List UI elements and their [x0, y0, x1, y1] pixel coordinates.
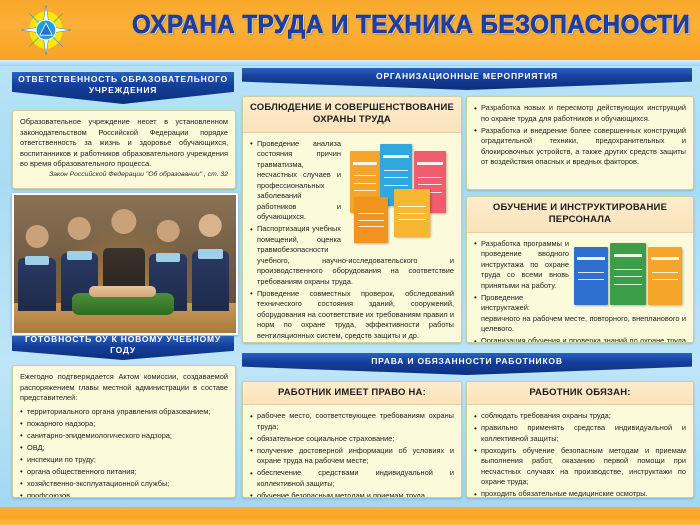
compliance-list: Проведение анализа состояния причин трав…: [250, 139, 454, 343]
worker-duties-list: соблюдать требования охраны труда; прави…: [474, 411, 686, 498]
list-item: получение достоверной информации об усло…: [250, 446, 454, 467]
photo-cpr-training: [12, 193, 238, 335]
card-measures-development: Разработка новых и пересмотр действующих…: [466, 96, 694, 190]
banner-responsibility: ОТВЕТСТВЕННОСТЬ ОБРАЗОВАТЕЛЬНОГО УЧРЕЖДЕ…: [12, 72, 234, 104]
poster-header: ОХРАНА ТРУДА И ТЕХНИКА БЕЗОПАСНОСТИ: [0, 0, 700, 60]
list-item: обеспечение средствами индивидуальной и …: [250, 468, 454, 489]
responsibility-citation: Закон Российской Федерации "Об образован…: [20, 171, 228, 178]
subhead-worker-duties: РАБОТНИК ОБЯЗАН:: [467, 382, 693, 405]
list-item: проходить обучение безопасным методам и …: [474, 446, 686, 488]
list-item: хозяйственно-эксплуатационной службы;: [20, 479, 228, 490]
list-item: Организация обучения и проверка знаний п…: [474, 336, 686, 343]
list-item: Разработка новых и пересмотр действующих…: [474, 103, 686, 124]
card-responsibility: Образовательное учреждение несет в устан…: [12, 110, 236, 189]
banner-rights-duties: ПРАВА И ОБЯЗАННОСТИ РАБОТНИКОВ: [242, 353, 692, 375]
card-readiness: Ежегодно подтверждается Актом комиссии, …: [12, 365, 236, 498]
list-item: Проведение совместных проверок, обследов…: [250, 289, 454, 342]
worker-rights-list: рабочее место, соответствующее требовани…: [250, 411, 454, 498]
subhead-training: ОБУЧЕНИЕ И ИНСТРУКТИРОВАНИЕ ПЕРСОНАЛА: [467, 197, 693, 233]
footer-band: [0, 507, 700, 525]
list-item: профсоюзов.: [20, 491, 228, 498]
list-item: ОВД;: [20, 443, 228, 454]
emercom-star-emblem-icon: [18, 4, 74, 56]
list-item: Разработка программы и проведение вводно…: [474, 239, 686, 292]
poster-root: ОХРАНА ТРУДА И ТЕХНИКА БЕЗОПАСНОСТИ ОТВЕ…: [0, 0, 700, 525]
header-underline: [0, 60, 700, 66]
list-item: санитарно-эпидемиологического надзора;: [20, 431, 228, 442]
measures-list: Разработка новых и пересмотр действующих…: [474, 103, 686, 168]
list-item: проходить обязательные медицинские осмот…: [474, 489, 686, 498]
list-item: органа общественного питания;: [20, 467, 228, 478]
card-worker-rights: РАБОТНИК ИМЕЕТ ПРАВО НА: рабочее место, …: [242, 381, 462, 498]
subhead-compliance: СОБЛЮДЕНИЕ И СОВЕРШЕНСТВОВАНИЕ ОХРАНЫ ТР…: [243, 97, 461, 133]
card-training: ОБУЧЕНИЕ И ИНСТРУКТИРОВАНИЕ ПЕРСОНАЛА Ра…: [466, 196, 694, 343]
training-list: Разработка программы и проведение вводно…: [474, 239, 686, 343]
subhead-worker-rights: РАБОТНИК ИМЕЕТ ПРАВО НА:: [243, 382, 461, 405]
card-compliance: СОБЛЮДЕНИЕ И СОВЕРШЕНСТВОВАНИЕ ОХРАНЫ ТР…: [242, 96, 462, 343]
list-item: территориального органа управления образ…: [20, 407, 228, 418]
list-item: пожарного надзора;: [20, 419, 228, 430]
readiness-list: территориального органа управления образ…: [20, 407, 228, 498]
list-item: Проведение анализа состояния причин трав…: [250, 139, 454, 223]
list-item: рабочее место, соответствующее требовани…: [250, 411, 454, 432]
responsibility-paragraph: Образовательное учреждение несет в устан…: [20, 117, 228, 170]
banner-readiness: ГОТОВНОСТЬ ОУ К НОВОМУ УЧЕБНОМУ ГОДУ: [12, 336, 234, 360]
list-item: Разработка и внедрение более совершенных…: [474, 126, 686, 168]
list-item: Проведение инструктажей: первичного на р…: [474, 293, 686, 335]
list-item: обязательное социальное страхование;: [250, 434, 454, 445]
list-item: инспекции по труду;: [20, 455, 228, 466]
banner-organizational-measures: ОРГАНИЗАЦИОННЫЕ МЕРОПРИЯТИЯ: [242, 68, 692, 90]
card-worker-duties: РАБОТНИК ОБЯЗАН: соблюдать требования ох…: [466, 381, 694, 498]
page-title: ОХРАНА ТРУДА И ТЕХНИКА БЕЗОПАСНОСТИ: [132, 9, 690, 40]
readiness-intro: Ежегодно подтверждается Актом комиссии, …: [20, 372, 228, 404]
list-item: Паспортизация учебных помещений, оценка …: [250, 224, 454, 287]
list-item: правильно применять средства индивидуаль…: [474, 423, 686, 444]
list-item: соблюдать требования охраны труда;: [474, 411, 686, 422]
list-item: обучение безопасным методам и приемам тр…: [250, 491, 454, 498]
